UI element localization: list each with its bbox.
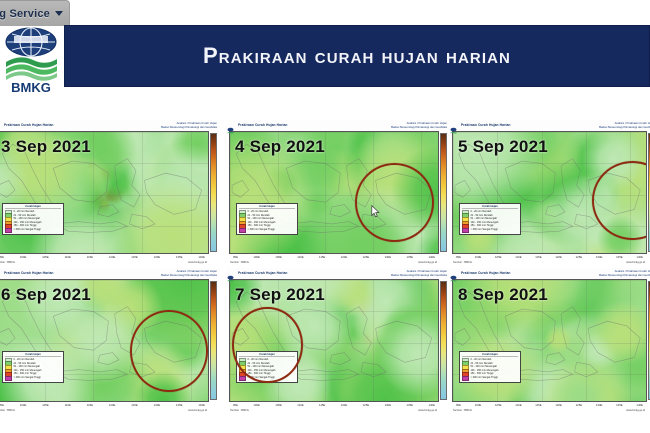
map-legend-title: Curah Hujan: [5, 205, 61, 209]
map-panel-grid: Prakiraan Curah Hujan HarianAnalisis / P…: [0, 120, 650, 420]
panel-chart-title: Prakiraan Curah Hujan Harian: [461, 124, 511, 127]
x-axis-tick: 100E: [253, 403, 260, 407]
map-legend-title: Curah Hujan: [5, 353, 61, 357]
panel-credit-right: www.bmkg.go.id: [418, 409, 437, 412]
map-x-axis: 95E100E105E110E115E120E125E130E135E140E: [0, 403, 209, 415]
panel-chart-meta: Analisis / Prakiraan Curah HujanBadan Me…: [599, 270, 650, 277]
x-axis-tick: 135E: [176, 255, 183, 259]
bmkg-mini-logo-icon: [450, 270, 457, 278]
panel-credit-left: Sumber : BMKG: [0, 409, 15, 412]
panel-header: Prakiraan Curah Hujan HarianAnalisis / P…: [449, 120, 650, 131]
map-legend-swatch: [462, 376, 469, 381]
panel-chart-title: Prakiraan Curah Hujan Harian: [4, 124, 54, 127]
chevron-down-icon[interactable]: [55, 11, 63, 16]
x-axis-tick: 120E: [341, 403, 348, 407]
x-axis-tick: 125E: [131, 403, 138, 407]
panel-chart-meta: Analisis / Prakiraan Curah HujanBadan Me…: [161, 122, 217, 129]
x-axis-tick: 110E: [65, 255, 71, 259]
x-axis-tick: 130E: [154, 403, 161, 407]
map-legend-label: > 300 mm Sangat Tinggi: [248, 229, 275, 232]
map-panel[interactable]: Prakiraan Curah Hujan HarianAnalisis / P…: [0, 268, 220, 416]
panel-date-label: 3 Sep 2021: [1, 137, 91, 157]
slide-title-banner: Prakiraan Curah Hujan Harian: [64, 25, 650, 87]
presentation-slide: ing Service BMKG Prakiraan Curah Hujan H…: [0, 0, 650, 433]
x-axis-tick: 135E: [176, 403, 183, 407]
panel-chart-meta: Analisis / Prakiraan Curah HujanBadan Me…: [391, 270, 447, 277]
map-panel[interactable]: Prakiraan Curah Hujan HarianAnalisis / P…: [449, 120, 650, 268]
rainfall-colorbar: [210, 281, 217, 400]
rainfall-colorbar: [210, 133, 217, 252]
x-axis-tick: 105E: [275, 255, 282, 259]
map-legend-item: > 300 mm Sangat Tinggi: [462, 228, 518, 232]
x-axis-tick: 135E: [407, 403, 414, 407]
panel-credit-left: Sumber : BMKG: [230, 261, 249, 264]
x-axis-tick: 120E: [109, 255, 116, 259]
panel-credit-left: Sumber : BMKG: [0, 261, 15, 264]
panel-credit-right: www.bmkg.go.id: [418, 261, 437, 264]
panel-header: Prakiraan Curah Hujan HarianAnalisis / P…: [0, 268, 220, 279]
map-legend-item: > 300 mm Sangat Tinggi: [239, 228, 295, 232]
x-axis-tick: 140E: [198, 255, 205, 259]
map-x-axis: 95E100E105E110E115E120E125E130E135E140E: [452, 255, 647, 267]
x-axis-tick: 100E: [253, 255, 260, 259]
x-axis-tick: 95E: [0, 403, 4, 407]
x-axis-tick: 110E: [515, 403, 521, 407]
x-axis-tick: 130E: [385, 255, 392, 259]
x-axis-tick: 105E: [495, 255, 502, 259]
panel-chart-meta: Analisis / Prakiraan Curah HujanBadan Me…: [391, 122, 447, 129]
map-legend-swatch: [5, 228, 12, 233]
bmkg-mini-logo-icon: [227, 122, 234, 130]
map-legend-swatch: [5, 376, 12, 381]
x-axis-tick: 120E: [109, 403, 116, 407]
panel-header: Prakiraan Curah Hujan HarianAnalisis / P…: [449, 268, 650, 279]
x-axis-tick: 110E: [65, 403, 71, 407]
map-panel[interactable]: Prakiraan Curah Hujan HarianAnalisis / P…: [226, 268, 450, 416]
x-axis-tick: 125E: [363, 403, 370, 407]
map-legend-swatch: [239, 228, 246, 233]
x-axis-tick: 95E: [456, 255, 461, 259]
x-axis-tick: 100E: [20, 403, 27, 407]
map-panel[interactable]: Prakiraan Curah Hujan HarianAnalisis / P…: [226, 120, 450, 268]
x-axis-tick: 125E: [576, 255, 583, 259]
x-axis-tick: 125E: [576, 403, 583, 407]
x-axis-tick: 100E: [475, 255, 482, 259]
map-x-axis: 95E100E105E110E115E120E125E130E135E140E: [452, 403, 647, 415]
map-legend-label: > 300 mm Sangat Tinggi: [471, 377, 498, 380]
map-legend-label: > 300 mm Sangat Tinggi: [14, 229, 41, 232]
x-axis-tick: 130E: [154, 255, 161, 259]
panel-chart-meta: Analisis / Prakiraan Curah HujanBadan Me…: [161, 270, 217, 277]
map-legend-title: Curah Hujan: [462, 353, 518, 357]
bmkg-mini-logo-icon: [227, 270, 234, 278]
map-legend-title: Curah Hujan: [239, 353, 295, 357]
panel-date-label: 6 Sep 2021: [1, 285, 91, 305]
panel-credit-left: Sumber : BMKG: [453, 409, 472, 412]
x-axis-tick: 110E: [515, 255, 521, 259]
panel-date-label: 5 Sep 2021: [458, 137, 548, 157]
x-axis-tick: 140E: [636, 403, 643, 407]
x-axis-tick: 95E: [456, 403, 461, 407]
panel-credit-right: www.bmkg.go.id: [188, 261, 207, 264]
x-axis-tick: 105E: [275, 403, 282, 407]
x-axis-tick: 125E: [131, 255, 138, 259]
x-axis-tick: 130E: [596, 403, 603, 407]
map-legend-item: > 300 mm Sangat Tinggi: [5, 228, 61, 232]
page-title: Prakiraan Curah Hujan Harian: [203, 43, 511, 69]
panel-chart-title: Prakiraan Curah Hujan Harian: [238, 124, 288, 127]
map-legend-item: > 300 mm Sangat Tinggi: [5, 376, 61, 380]
svg-text:BMKG: BMKG: [11, 80, 51, 94]
map-legend-item: > 300 mm Sangat Tinggi: [462, 376, 518, 380]
mouse-cursor-icon: [371, 205, 380, 218]
rainfall-colorbar: [440, 281, 447, 400]
x-axis-tick: 95E: [233, 255, 238, 259]
x-axis-tick: 115E: [87, 403, 93, 407]
x-axis-tick: 130E: [596, 255, 603, 259]
panel-header: Prakiraan Curah Hujan HarianAnalisis / P…: [0, 120, 220, 131]
x-axis-tick: 140E: [428, 403, 435, 407]
x-axis-tick: 120E: [555, 255, 562, 259]
map-legend: Curah Hujan0 - 20 mm Rendah21 - 50 mm Re…: [2, 203, 64, 235]
x-axis-tick: 125E: [363, 255, 370, 259]
browser-tab-label: ing Service: [0, 8, 50, 20]
x-axis-tick: 115E: [535, 403, 541, 407]
x-axis-tick: 110E: [297, 255, 303, 259]
x-axis-tick: 115E: [535, 255, 541, 259]
panel-header: Prakiraan Curah Hujan HarianAnalisis / P…: [226, 268, 450, 279]
map-legend: Curah Hujan0 - 20 mm Rendah21 - 50 mm Re…: [459, 351, 521, 383]
map-legend: Curah Hujan0 - 20 mm Rendah21 - 50 mm Re…: [236, 351, 298, 383]
panel-header: Prakiraan Curah Hujan HarianAnalisis / P…: [226, 120, 450, 131]
panel-date-label: 8 Sep 2021: [458, 285, 548, 305]
x-axis-tick: 140E: [198, 403, 205, 407]
x-axis-tick: 120E: [341, 255, 348, 259]
x-axis-tick: 95E: [0, 255, 4, 259]
map-panel[interactable]: Prakiraan Curah Hujan HarianAnalisis / P…: [449, 268, 650, 416]
x-axis-tick: 115E: [319, 403, 325, 407]
x-axis-tick: 100E: [20, 255, 27, 259]
map-legend: Curah Hujan0 - 20 mm Rendah21 - 50 mm Re…: [459, 203, 521, 235]
panel-chart-meta: Analisis / Prakiraan Curah HujanBadan Me…: [599, 122, 650, 129]
map-legend-swatch: [462, 228, 469, 233]
map-legend-swatch: [239, 376, 246, 381]
x-axis-tick: 115E: [319, 255, 325, 259]
panel-chart-title: Prakiraan Curah Hujan Harian: [4, 272, 54, 275]
x-axis-tick: 105E: [42, 255, 49, 259]
bmkg-mini-logo-icon: [450, 122, 457, 130]
x-axis-tick: 135E: [407, 255, 414, 259]
map-legend: Curah Hujan0 - 20 mm Rendah21 - 50 mm Re…: [236, 203, 298, 235]
map-legend-item: > 300 mm Sangat Tinggi: [239, 376, 295, 380]
map-legend-label: > 300 mm Sangat Tinggi: [471, 229, 498, 232]
map-x-axis: 95E100E105E110E115E120E125E130E135E140E: [0, 255, 209, 267]
x-axis-tick: 130E: [385, 403, 392, 407]
map-legend: Curah Hujan0 - 20 mm Rendah21 - 50 mm Re…: [2, 351, 64, 383]
panel-chart-title: Prakiraan Curah Hujan Harian: [461, 272, 511, 275]
map-legend-label: > 300 mm Sangat Tinggi: [248, 377, 275, 380]
panel-credit-left: Sumber : BMKG: [453, 261, 472, 264]
x-axis-tick: 120E: [555, 403, 562, 407]
panel-chart-title: Prakiraan Curah Hujan Harian: [238, 272, 288, 275]
panel-credit-right: www.bmkg.go.id: [626, 261, 645, 264]
panel-date-label: 4 Sep 2021: [235, 137, 325, 157]
x-axis-tick: 115E: [87, 255, 93, 259]
x-axis-tick: 105E: [42, 403, 49, 407]
map-legend-title: Curah Hujan: [462, 205, 518, 209]
x-axis-tick: 100E: [475, 403, 482, 407]
bmkg-logo-icon: BMKG: [0, 22, 62, 94]
rainfall-colorbar: [440, 133, 447, 252]
x-axis-tick: 110E: [297, 403, 303, 407]
panel-date-label: 7 Sep 2021: [235, 285, 325, 305]
x-axis-tick: 95E: [233, 403, 238, 407]
x-axis-tick: 140E: [636, 255, 643, 259]
map-legend-label: > 300 mm Sangat Tinggi: [14, 377, 41, 380]
panel-credit-right: www.bmkg.go.id: [626, 409, 645, 412]
x-axis-tick: 135E: [616, 403, 623, 407]
panel-credit-right: www.bmkg.go.id: [188, 409, 207, 412]
x-axis-tick: 140E: [428, 255, 435, 259]
x-axis-tick: 105E: [495, 403, 502, 407]
map-x-axis: 95E100E105E110E115E120E125E130E135E140E: [229, 403, 439, 415]
map-legend-title: Curah Hujan: [239, 205, 295, 209]
panel-credit-left: Sumber : BMKG: [230, 409, 249, 412]
map-x-axis: 95E100E105E110E115E120E125E130E135E140E: [229, 255, 439, 267]
map-panel[interactable]: Prakiraan Curah Hujan HarianAnalisis / P…: [0, 120, 220, 268]
x-axis-tick: 135E: [616, 255, 623, 259]
